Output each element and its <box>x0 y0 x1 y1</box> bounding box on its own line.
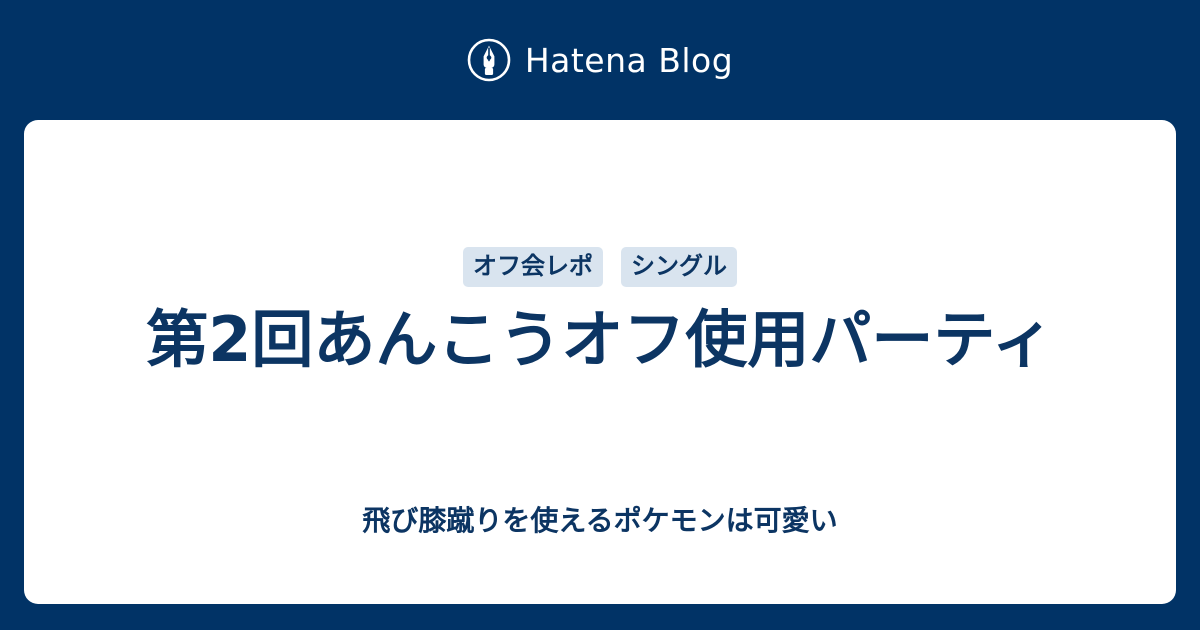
blog-name-subtitle: 飛び膝蹴りを使えるポケモンは可愛い <box>24 504 1176 538</box>
tag-item[interactable]: シングル <box>621 247 737 287</box>
ogp-card-root: Hatena Blog オフ会レポ シングル 第2回あんこうオフ使用パーティ 飛… <box>0 0 1200 630</box>
tag-list: オフ会レポ シングル <box>463 248 737 286</box>
entry-title: 第2回あんこうオフ使用パーティ <box>146 302 1053 378</box>
tag-item[interactable]: オフ会レポ <box>463 247 603 287</box>
entry-card: オフ会レポ シングル 第2回あんこうオフ使用パーティ 飛び膝蹴りを使えるポケモン… <box>24 120 1176 604</box>
brand-name-label: Hatena Blog <box>525 44 733 77</box>
hatena-pen-nib-icon <box>467 38 511 82</box>
hatena-blog-brand[interactable]: Hatena Blog <box>0 0 1200 120</box>
